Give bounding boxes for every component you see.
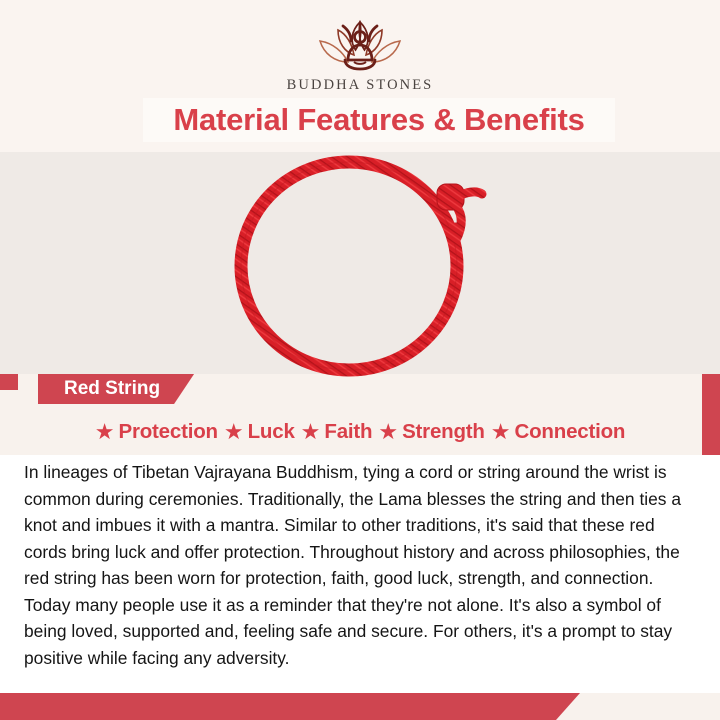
benefit-label: Luck bbox=[248, 420, 295, 444]
description-area: In lineages of Tibetan Vajrayana Buddhis… bbox=[0, 455, 720, 693]
product-label-ribbon: Red String bbox=[38, 374, 194, 404]
star-icon: ★ bbox=[378, 421, 398, 443]
benefits-row: ★ Protection ★ Luck ★ Faith ★ Strength ★… bbox=[0, 420, 720, 444]
benefit-label: Connection bbox=[515, 420, 626, 444]
star-icon: ★ bbox=[224, 421, 244, 443]
brand-name: BUDDHA STONES bbox=[287, 77, 434, 94]
product-photo-area bbox=[0, 152, 720, 374]
star-icon: ★ bbox=[491, 421, 511, 443]
red-string-bracelet-photo bbox=[226, 148, 494, 378]
benefit-item-protection: ★ Protection bbox=[95, 420, 218, 444]
benefit-item-faith: ★ Faith bbox=[301, 420, 373, 444]
benefit-item-connection: ★ Connection bbox=[491, 420, 625, 444]
brand-logo: BUDDHA STONES bbox=[0, 14, 720, 94]
benefit-label: Faith bbox=[324, 420, 372, 444]
benefit-item-strength: ★ Strength bbox=[378, 420, 484, 444]
decorative-bar-bottom-left bbox=[0, 693, 580, 720]
benefit-label: Protection bbox=[118, 420, 217, 444]
benefit-label: Strength bbox=[402, 420, 485, 444]
description-text: In lineages of Tibetan Vajrayana Buddhis… bbox=[24, 459, 696, 671]
star-icon: ★ bbox=[301, 421, 321, 443]
product-label-text: Red String bbox=[64, 378, 160, 400]
benefit-item-luck: ★ Luck bbox=[224, 420, 295, 444]
material-features-poster: BUDDHA STONES Material Features & Benefi… bbox=[0, 0, 720, 720]
title-banner: Material Features & Benefits bbox=[143, 98, 615, 142]
page-title: Material Features & Benefits bbox=[173, 102, 584, 138]
star-icon: ★ bbox=[95, 421, 115, 443]
lotus-meditation-icon bbox=[295, 14, 425, 76]
